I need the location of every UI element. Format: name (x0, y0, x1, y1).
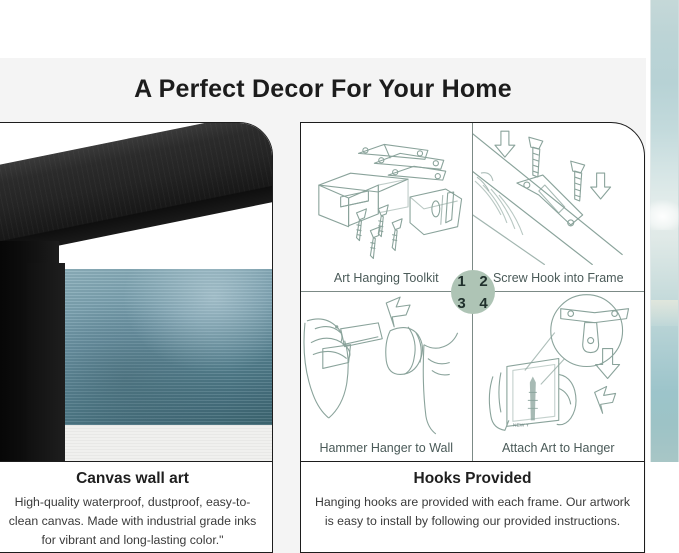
step-number-2: 2 (473, 270, 495, 292)
instruction-panel-2: Screw Hook into Frame (473, 123, 645, 292)
hooks-description-title: Hooks Provided (313, 470, 632, 488)
hooks-description-body: Hanging hooks are provided with each fra… (313, 493, 632, 531)
canvas-white-band (61, 425, 273, 462)
horizon-detail (651, 300, 678, 326)
cloud-detail (649, 200, 679, 230)
frame-left-inner (27, 263, 65, 462)
canvas-description-body: High-quality waterproof, dustproof, easy… (3, 493, 262, 550)
canvas-description-block: Canvas wall art High-quality waterproof,… (0, 462, 273, 553)
step-number-3: 3 (451, 292, 473, 314)
instruction-label-1: Art Hanging Toolkit (301, 271, 472, 285)
instruction-label-3: Hammer Hanger to Wall (301, 441, 472, 455)
art-caption-text: NEW Y (512, 422, 529, 428)
step-number-badge: 1 2 3 4 (451, 270, 495, 314)
adjacent-image-strip-filler (650, 462, 679, 553)
hanging-instructions-card: Art Hanging Toolkit (300, 122, 645, 462)
product-detail-page: A Perfect Decor For Your Home (0, 0, 679, 553)
step-number-1: 1 (451, 270, 473, 292)
instruction-panel-1: Art Hanging Toolkit (301, 123, 473, 292)
canvas-wall-art-photo (0, 123, 272, 461)
screw-hook-illustration (473, 123, 645, 265)
page-title: A Perfect Decor For Your Home (0, 75, 646, 104)
canvas-art-card (0, 122, 273, 462)
hanging-toolkit-illustration (301, 123, 472, 265)
top-whitespace (0, 0, 646, 58)
instruction-panel-3: Hammer Hanger to Wall (301, 292, 473, 461)
step-number-4: 4 (473, 292, 495, 314)
hooks-description-block: Hooks Provided Hanging hooks are provide… (300, 462, 645, 553)
attach-art-illustration: NEW Y (473, 292, 645, 435)
canvas-print-surface (61, 269, 273, 425)
instruction-panel-4: NEW Y Attach Art to Hanger (473, 292, 645, 461)
adjacent-image-strip (650, 0, 679, 462)
canvas-description-title: Canvas wall art (3, 470, 262, 488)
instruction-label-4: Attach Art to Hanger (473, 441, 645, 455)
hammer-hanger-illustration (301, 292, 472, 435)
instruction-label-2: Screw Hook into Frame (473, 271, 645, 285)
